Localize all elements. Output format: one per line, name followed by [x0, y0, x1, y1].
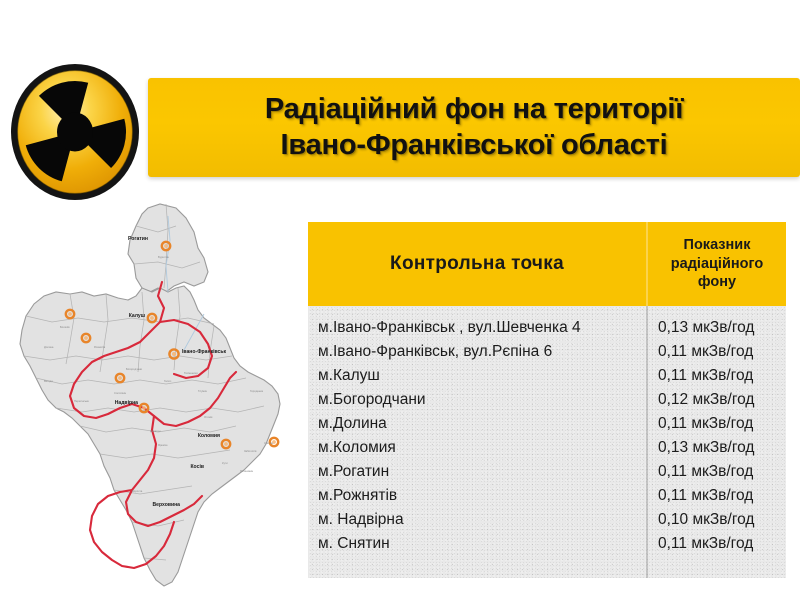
table-row: м.Рожнятів 0,11 мкЗв/год — [308, 484, 786, 508]
table-row: м.Івано-Франківськ , вул.Шевченка 4 0,13… — [308, 316, 786, 340]
map-label-rohatyn: Рогатин — [128, 236, 148, 242]
header: Радіаційний фон на території Івано-Франк… — [0, 30, 800, 190]
table-row: м.Івано-Франківськ, вул.Рєпіна 6 0,11 мк… — [308, 340, 786, 364]
table-row: м.Калуш 0,11 мкЗв/год — [308, 364, 786, 388]
cell-control-point: м.Богородчани — [308, 391, 646, 409]
table-row: м. Снятин 0,11 мкЗв/год — [308, 532, 786, 556]
cell-radiation-value: 0,11 мкЗв/год — [646, 343, 786, 361]
cell-control-point: м.Івано-Франківськ , вул.Шевченка 4 — [308, 319, 646, 337]
svg-text:Делятин: Делятин — [150, 429, 161, 433]
column-header-control-point: Контрольна точка — [308, 222, 648, 306]
map-label-nadvirna: Надвірна — [115, 400, 138, 406]
svg-text:Вигода: Вигода — [44, 379, 53, 383]
cell-radiation-value: 0,13 мкЗв/год — [646, 439, 786, 457]
svg-text:Яремче: Яремче — [158, 443, 168, 447]
svg-text:Перегінське: Перегінське — [74, 399, 89, 403]
svg-text:Солотвин: Солотвин — [114, 391, 127, 395]
map-label-kalush: Калуш — [129, 313, 145, 319]
svg-text:Снятин: Снятин — [264, 441, 274, 445]
svg-text:Печеніжин: Печеніжин — [240, 469, 254, 473]
svg-text:Тисмениця: Тисмениця — [184, 371, 198, 375]
table-row: м. Надвірна 0,10 мкЗв/год — [308, 508, 786, 532]
column-header-line-2: радіаційного — [671, 256, 763, 272]
svg-text:Тлумач: Тлумач — [198, 389, 208, 393]
column-header-line-1: Показник — [684, 237, 751, 253]
cell-control-point: м.Рожнятів — [308, 487, 646, 505]
page-title-line-2: Івано-Франківської області — [273, 128, 676, 163]
cell-control-point: м. Надвірна — [308, 511, 646, 529]
svg-text:Болехів: Болехів — [60, 325, 70, 329]
title-banner: Радіаційний фон на території Івано-Франк… — [148, 78, 800, 177]
table-row: м.Богородчани 0,12 мкЗв/год — [308, 388, 786, 412]
map-label-ifrankivsk: Івано-Франківськ — [182, 349, 226, 355]
svg-text:Отинія: Отинія — [204, 415, 213, 419]
table-row: м.Рогатин 0,11 мкЗв/год — [308, 460, 786, 484]
cell-radiation-value: 0,11 мкЗв/год — [646, 367, 786, 385]
region-map: Рогатин Калуш Івано-Франківськ Надвірна … — [8, 196, 300, 594]
table-row: м.Долина 0,11 мкЗв/год — [308, 412, 786, 436]
cell-radiation-value: 0,13 мкЗв/год — [646, 319, 786, 337]
cell-control-point: м.Рогатин — [308, 463, 646, 481]
cell-control-point: м. Снятин — [308, 535, 646, 553]
map-label-kosiv: Косів — [190, 464, 204, 470]
cell-control-point: м.Долина — [308, 415, 646, 433]
cell-radiation-value: 0,12 мкЗв/год — [646, 391, 786, 409]
cell-radiation-value: 0,11 мкЗв/год — [646, 487, 786, 505]
table-body: м.Івано-Франківськ , вул.Шевченка 4 0,13… — [308, 306, 786, 578]
map-label-kolomyia: Коломия — [198, 433, 220, 439]
radiation-table: Контрольна точка Показник радіаційного ф… — [308, 222, 786, 578]
cell-radiation-value: 0,11 мкЗв/год — [646, 463, 786, 481]
column-header-radiation-value: Показник радіаційного фону — [648, 222, 786, 306]
map-label-verkhovyna: Верховина — [152, 502, 180, 508]
svg-text:Городенка: Городенка — [250, 389, 263, 393]
cell-radiation-value: 0,10 мкЗв/год — [646, 511, 786, 529]
cell-radiation-value: 0,11 мкЗв/год — [646, 535, 786, 553]
radiation-trefoil-icon — [8, 62, 143, 202]
svg-text:Бурштин: Бурштин — [158, 255, 169, 259]
svg-text:Кути: Кути — [222, 461, 228, 465]
svg-text:Ворохта: Ворохта — [132, 489, 143, 493]
svg-text:Галич: Галич — [164, 379, 172, 383]
column-header-line-3: фону — [698, 274, 736, 290]
table-header-row: Контрольна точка Показник радіаційного ф… — [308, 222, 786, 306]
svg-text:Заболотів: Заболотів — [244, 449, 257, 453]
slide-root: Радіаційний фон на території Івано-Франк… — [0, 0, 800, 600]
cell-control-point: м.Івано-Франківськ, вул.Рєпіна 6 — [308, 343, 646, 361]
page-title-line-1: Радіаційний фон на території — [257, 92, 691, 127]
svg-text:Богородчани: Богородчани — [126, 367, 143, 371]
cell-control-point: м.Коломия — [308, 439, 646, 457]
cell-control-point: м.Калуш — [308, 367, 646, 385]
svg-text:Рожнятів: Рожнятів — [94, 345, 106, 349]
cell-radiation-value: 0,11 мкЗв/год — [646, 415, 786, 433]
table-row: м.Коломия 0,13 мкЗв/год — [308, 436, 786, 460]
svg-text:Долина: Долина — [44, 345, 54, 349]
